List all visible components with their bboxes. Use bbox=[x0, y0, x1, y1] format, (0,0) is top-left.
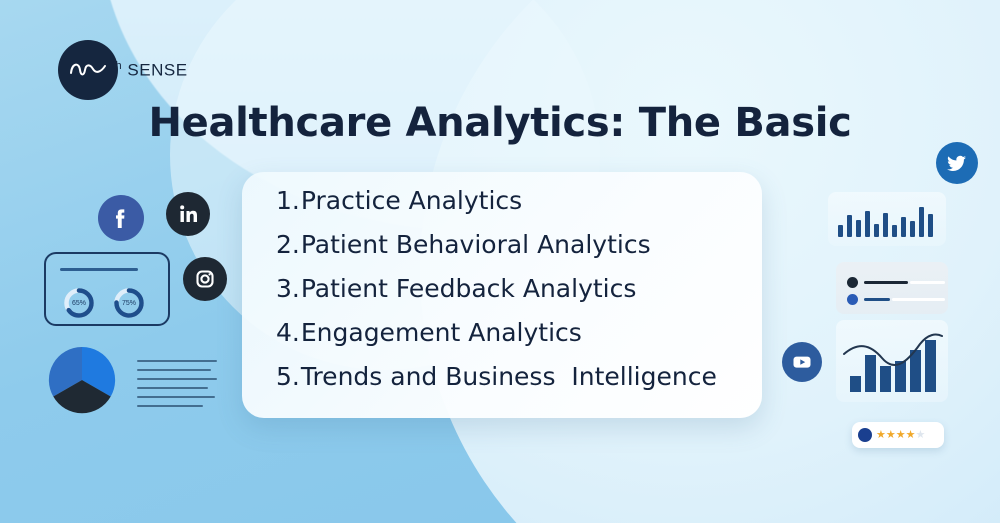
text-line bbox=[137, 396, 215, 398]
brand-name: th SENSE bbox=[112, 60, 188, 81]
linkedin-icon[interactable] bbox=[166, 192, 210, 236]
rating-badge: ★★★★★ bbox=[852, 422, 944, 448]
list-item-number: 5. bbox=[276, 364, 300, 389]
bar bbox=[874, 224, 879, 237]
list-item: 2. Patient Behavioral Analytics bbox=[242, 232, 762, 257]
wave-signature-mark-icon bbox=[58, 40, 118, 100]
page-title: Healthcare Analytics: The Basic bbox=[0, 100, 1000, 146]
combo-chart-card bbox=[836, 320, 948, 402]
bar bbox=[856, 220, 861, 237]
progress-row bbox=[847, 277, 945, 288]
bar bbox=[847, 215, 852, 237]
bar-chart-card bbox=[828, 192, 946, 246]
row-dot bbox=[847, 277, 858, 288]
brand-superscript: th bbox=[112, 60, 122, 72]
bar bbox=[910, 221, 915, 237]
progress-row bbox=[847, 294, 945, 305]
star-rating: ★★★★★ bbox=[876, 430, 925, 441]
progress-list-card bbox=[836, 262, 948, 314]
youtube-icon[interactable] bbox=[782, 342, 822, 382]
bar bbox=[892, 225, 897, 237]
row-dot bbox=[847, 294, 858, 305]
bar bbox=[919, 207, 924, 237]
combo-chart bbox=[836, 320, 948, 402]
instagram-icon[interactable] bbox=[183, 257, 227, 301]
bar bbox=[928, 214, 933, 237]
list-item-label: Patient Behavioral Analytics bbox=[301, 232, 651, 257]
list-item-label: Practice Analytics bbox=[301, 188, 522, 213]
text-line bbox=[137, 369, 211, 371]
list-item-number: 1. bbox=[276, 188, 300, 213]
text-line bbox=[137, 405, 203, 407]
row-track bbox=[892, 298, 945, 301]
list-item-number: 2. bbox=[276, 232, 300, 257]
brand-word: SENSE bbox=[127, 60, 187, 79]
row-track bbox=[910, 281, 945, 284]
row-bar bbox=[864, 298, 890, 301]
twitter-icon[interactable] bbox=[936, 142, 978, 184]
text-line bbox=[137, 378, 217, 380]
list-item: 3. Patient Feedback Analytics bbox=[242, 276, 762, 301]
list-item: 4. Engagement Analytics bbox=[242, 320, 762, 345]
list-item: 1. Practice Analytics bbox=[242, 188, 762, 213]
list-item-label: Engagement Analytics bbox=[301, 320, 582, 345]
gauge-value-label: 75% bbox=[112, 286, 146, 320]
bar bbox=[883, 213, 888, 237]
list-item-number: 4. bbox=[276, 320, 300, 345]
text-line bbox=[137, 360, 217, 362]
gauge-widget-card: 65% 75% bbox=[44, 252, 170, 326]
bar bbox=[865, 211, 870, 237]
bar bbox=[838, 225, 843, 237]
star-empty: ★ bbox=[915, 429, 925, 441]
donut-gauge: 75% bbox=[112, 286, 146, 320]
gauge-value-label: 65% bbox=[62, 286, 96, 320]
text-line bbox=[137, 387, 208, 389]
text-placeholder-lines bbox=[137, 360, 217, 414]
donut-gauge: 65% bbox=[62, 286, 96, 320]
pie-chart-icon bbox=[46, 344, 118, 416]
bar bbox=[901, 217, 906, 237]
bar-chart bbox=[838, 203, 933, 237]
brand-logo[interactable]: th SENSE bbox=[58, 40, 188, 100]
topic-list-card: 1. Practice Analytics 2. Patient Behavio… bbox=[242, 172, 762, 418]
list-item-label: Patient Feedback Analytics bbox=[301, 276, 637, 301]
list-item-label: Trends and Business Intelligence bbox=[301, 364, 717, 389]
row-bar bbox=[864, 281, 908, 284]
facebook-icon[interactable] bbox=[98, 195, 144, 241]
user-avatar bbox=[858, 428, 872, 442]
card-rule bbox=[60, 268, 138, 271]
list-item: 5. Trends and Business Intelligence bbox=[242, 364, 762, 389]
poster-canvas: th SENSE Healthcare Analytics: The Basic… bbox=[0, 0, 1000, 523]
list-item-number: 3. bbox=[276, 276, 300, 301]
